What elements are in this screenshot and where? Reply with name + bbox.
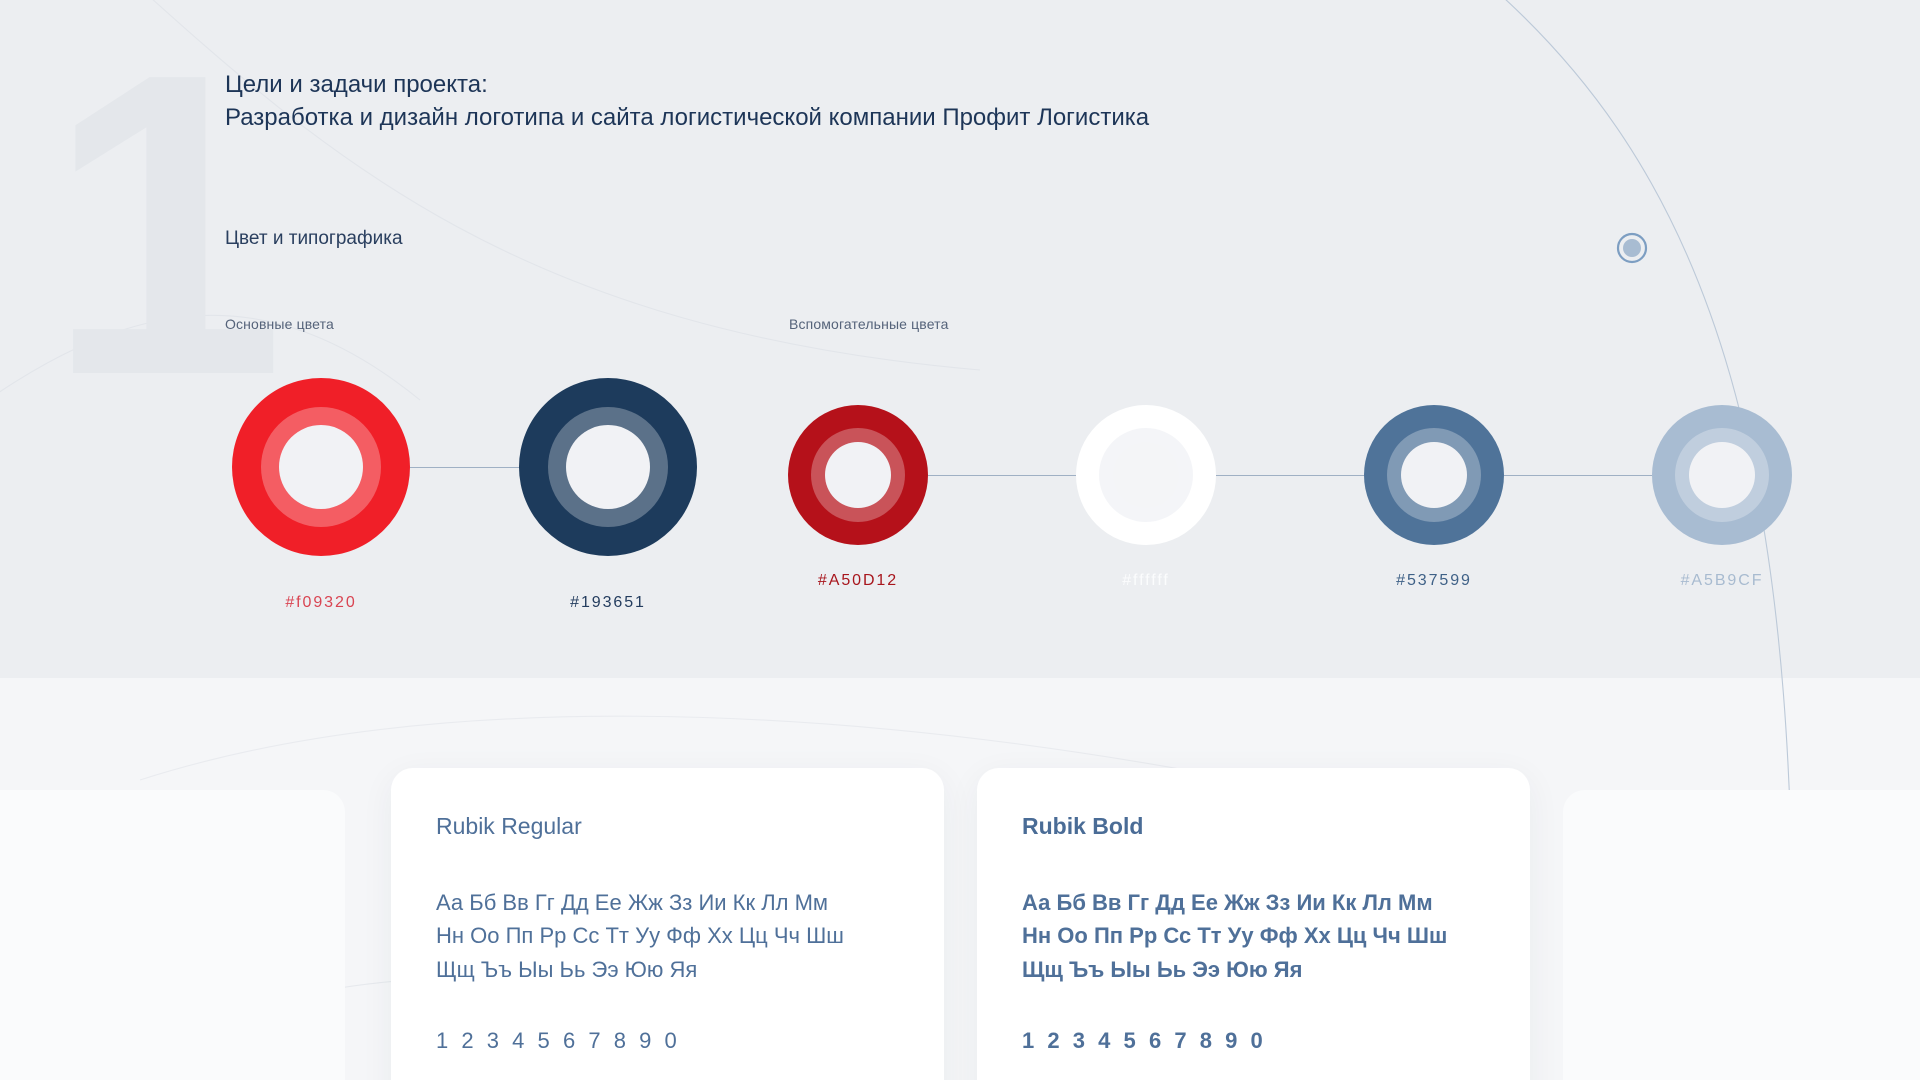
ring-outer [1076, 405, 1216, 545]
swatch-connector [1504, 475, 1652, 476]
ring-core [825, 442, 891, 508]
header-line-description: Разработка и дизайн логотипа и сайта лог… [225, 101, 1425, 134]
color-hex-label: #537599 [1396, 572, 1472, 590]
color-ring [1652, 405, 1792, 545]
color-ring [232, 378, 410, 556]
ring-mid [1099, 428, 1193, 522]
color-swatch[interactable]: #f09320 [232, 378, 410, 556]
typography-card-regular[interactable]: Rubik Regular Аа Бб Вв Гг Дд Ее Жж Зз Ии… [391, 768, 944, 1080]
alphabet-line: Нн Оо Пп Рр Сс Тт Уу Фф Хх Цц Чч Шш [1022, 919, 1530, 952]
color-hex-label: #A50D12 [818, 572, 898, 590]
ring-mid [1387, 428, 1481, 522]
alphabet-line: Щщ Ъъ Ыы Ьь Ээ Юю Яя [436, 953, 944, 986]
ring-core [1113, 442, 1179, 508]
page-header: Цели и задачи проекта: Разработка и диза… [225, 68, 1425, 134]
ring-mid [548, 407, 668, 527]
palette-secondary: #A50D12 #ffffff #537599 [788, 405, 1792, 545]
swatch-connector [410, 467, 519, 468]
slide-root: 1 Цели и задачи проекта: Разработка и ди… [0, 0, 1920, 1080]
ring-mid [261, 407, 381, 527]
numerals-line: 1 2 3 4 5 6 7 8 9 0 [436, 1028, 944, 1054]
ring-outer [1364, 405, 1504, 545]
alphabet-line: Аа Бб Вв Гг Дд Ее Жж Зз Ии Кк Лл Мм [436, 886, 944, 919]
section-title: Цвет и типографика [225, 228, 403, 250]
color-swatch[interactable]: #537599 [1364, 405, 1504, 545]
ring-outer [788, 405, 928, 545]
color-hex-label: #ffffff [1122, 572, 1170, 590]
font-name: Rubik Regular [436, 813, 944, 840]
ring-outer [519, 378, 697, 556]
alphabet-line: Щщ Ъъ Ыы Ьь Ээ Юю Яя [1022, 953, 1530, 986]
color-ring [1076, 405, 1216, 545]
color-swatch[interactable]: #193651 [519, 378, 697, 556]
alphabet-line: Нн Оо Пп Рр Сс Тт Уу Фф Хх Цц Чч Шш [436, 919, 944, 952]
swatch-connector [1216, 475, 1364, 476]
palette-label-secondary: Вспомогательные цвета [789, 316, 949, 332]
alphabet-line: Аа Бб Вв Гг Дд Ее Жж Зз Ии Кк Лл Мм [1022, 886, 1530, 919]
typography-card-bold[interactable]: Rubik Bold Аа Бб Вв Гг Дд Ее Жж Зз Ии Кк… [977, 768, 1530, 1080]
ring-outer [232, 378, 410, 556]
ring-core [566, 425, 650, 509]
color-ring [1364, 405, 1504, 545]
ring-core [1401, 442, 1467, 508]
ring-mid [811, 428, 905, 522]
font-name: Rubik Bold [1022, 813, 1530, 840]
swatch-connector [928, 475, 1076, 476]
ring-core [1689, 442, 1755, 508]
palette-primary: #f09320 #193651 [232, 378, 697, 556]
numerals-line: 1 2 3 4 5 6 7 8 9 0 [1022, 1028, 1530, 1054]
color-swatch[interactable]: #A5B9CF [1652, 405, 1792, 545]
ring-outer [1652, 405, 1792, 545]
typography-card-partial-right [1563, 790, 1920, 1080]
color-hex-label: #193651 [570, 594, 646, 612]
ring-mid [1675, 428, 1769, 522]
color-hex-label: #A5B9CF [1681, 572, 1764, 590]
color-hex-label: #f09320 [285, 594, 356, 612]
color-ring [519, 378, 697, 556]
color-ring [788, 405, 928, 545]
header-line-goals: Цели и задачи проекта: [225, 68, 1425, 101]
typography-card-partial-left [0, 790, 345, 1080]
color-swatch[interactable]: #A50D12 [788, 405, 928, 545]
ring-core [279, 425, 363, 509]
color-swatch[interactable]: #ffffff [1076, 405, 1216, 545]
palette-label-primary: Основные цвета [225, 316, 334, 332]
